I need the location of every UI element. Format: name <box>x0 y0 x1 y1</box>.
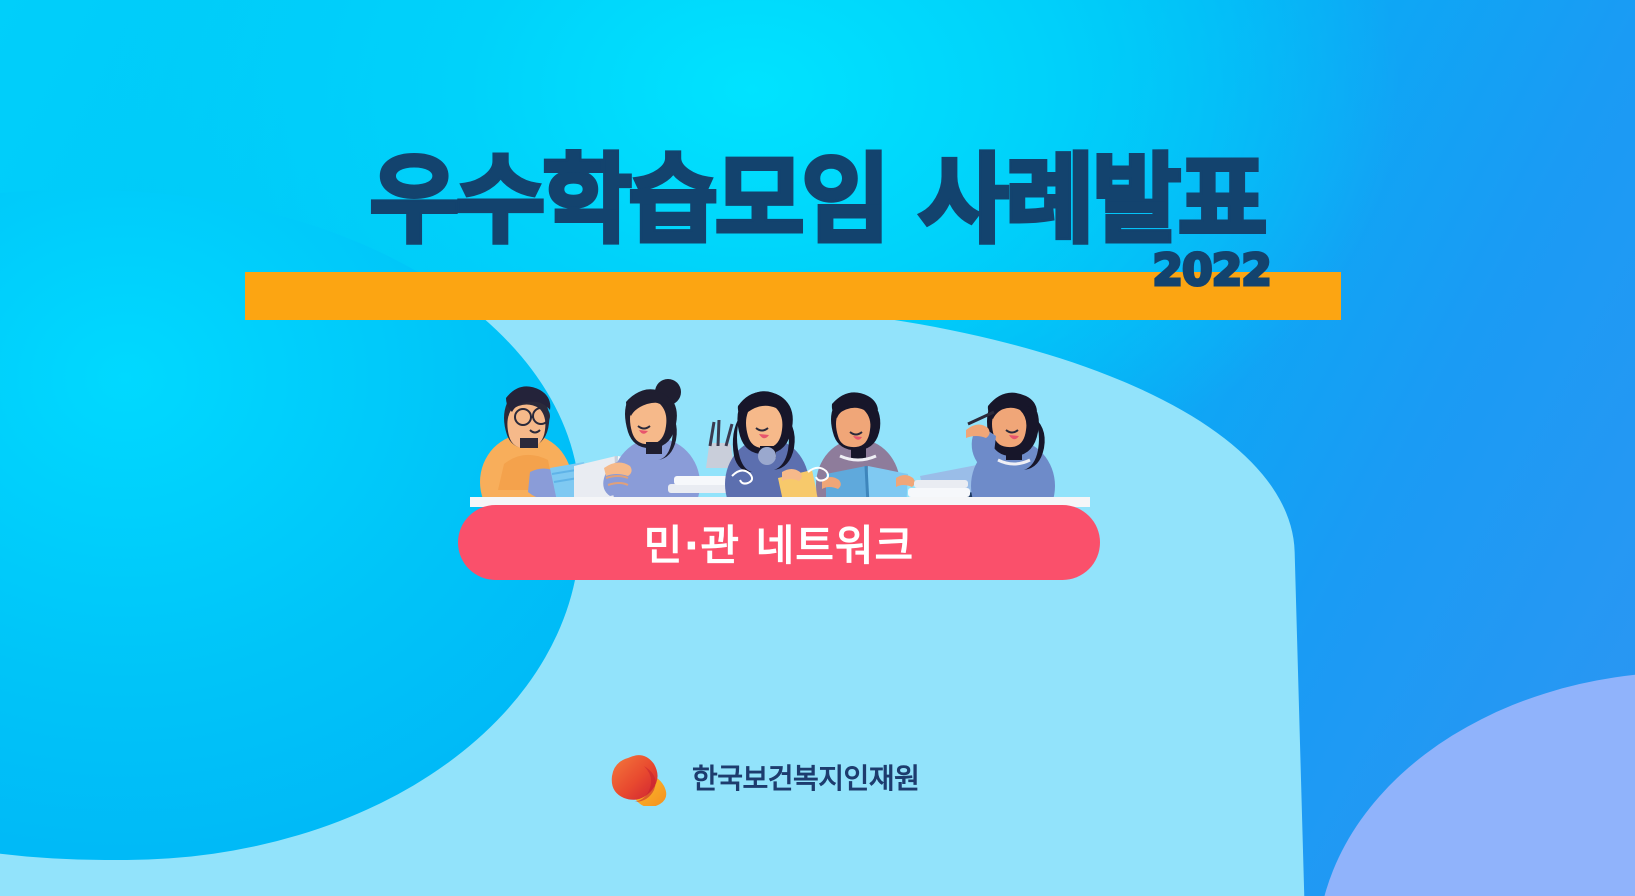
person-5 <box>966 393 1055 507</box>
year-badge: 2022 <box>1152 245 1270 296</box>
page-title: 우수학습모임 사례발표 <box>370 150 1265 252</box>
group-study-people-illustration <box>470 372 1090 507</box>
book-stack-right <box>908 480 970 497</box>
poster-canvas: 우수학습모임 사례발표 2022 <box>0 0 1635 896</box>
subtitle-label: 민·관 네트워크 <box>644 512 914 573</box>
poster-title-block: 우수학습모임 사례발표 2022 <box>0 150 1635 252</box>
organization-footer: 한국보건복지인재원 <box>604 748 919 806</box>
title-inner: 우수학습모임 사례발표 2022 <box>370 150 1265 252</box>
hanbokjin-logo-mark-icon <box>604 748 676 806</box>
subtitle-pill[interactable]: 민·관 네트워크 <box>458 505 1100 580</box>
person-4 <box>808 392 915 507</box>
person-3 <box>725 391 820 507</box>
organization-name: 한국보건복지인재원 <box>692 757 919 797</box>
book-stack-left <box>668 476 732 493</box>
pen-cup <box>706 420 734 468</box>
circle-shape-periwinkle <box>1317 672 1635 896</box>
